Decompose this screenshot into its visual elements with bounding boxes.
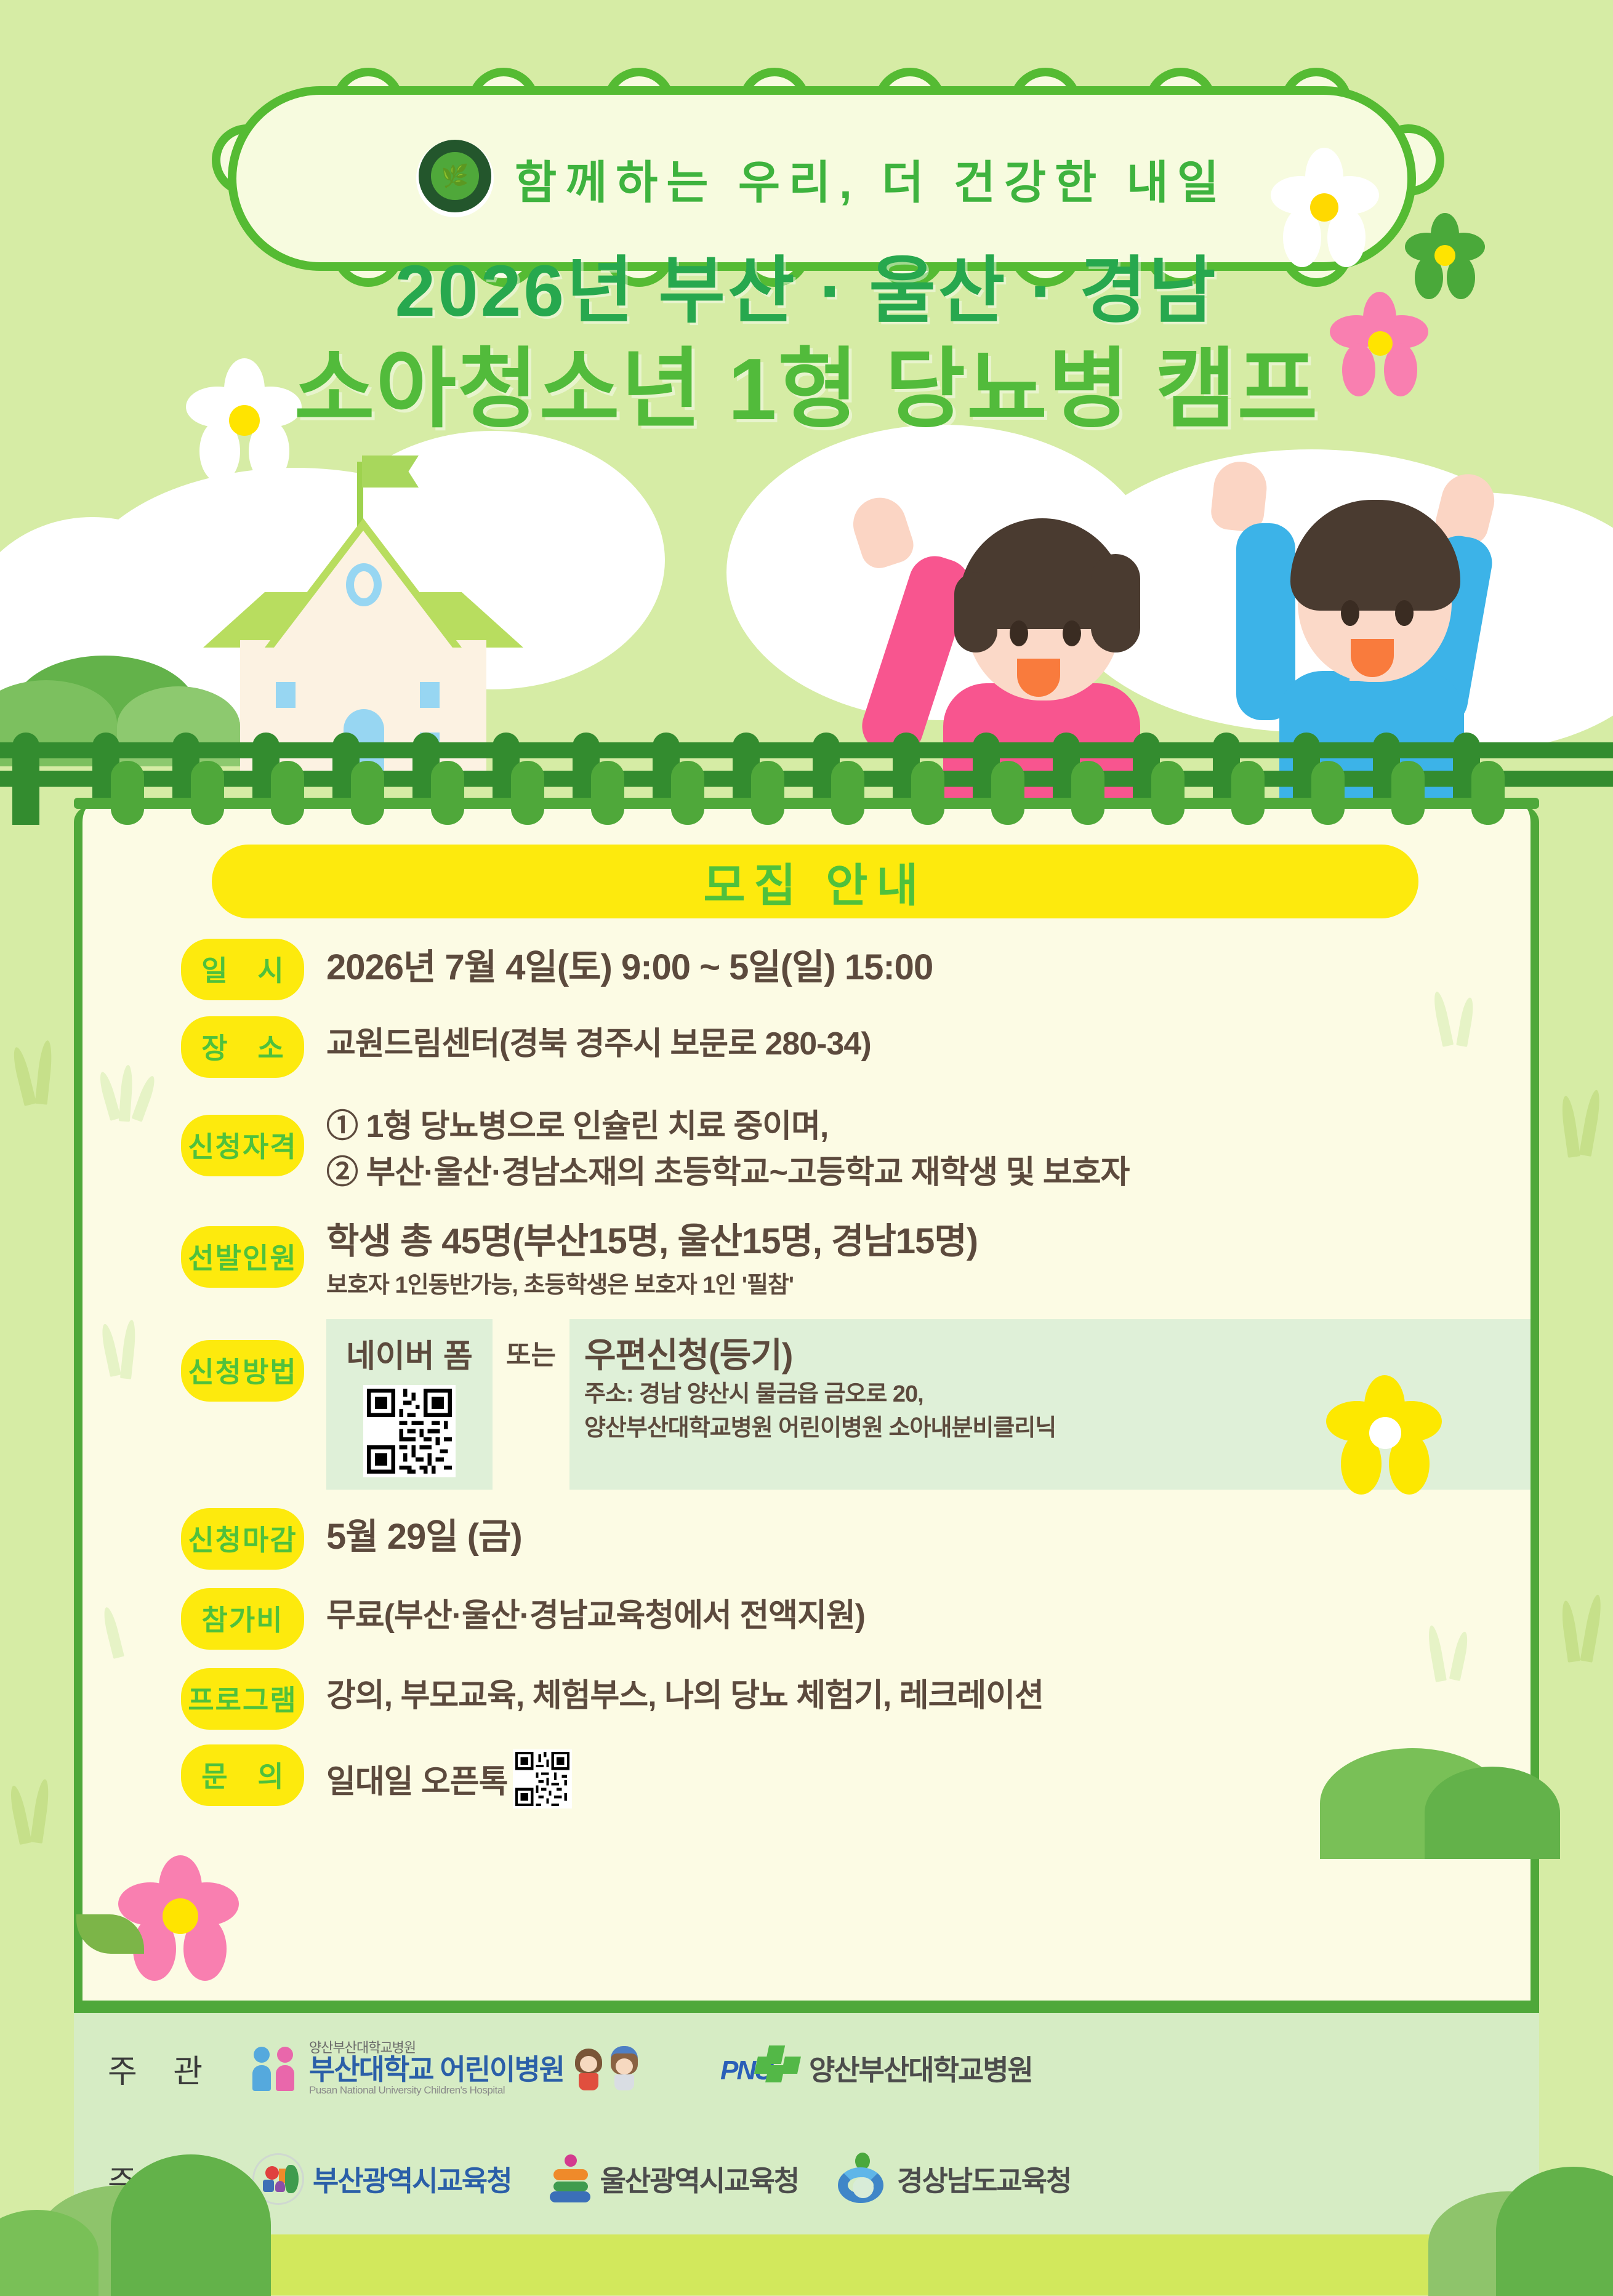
- flower-pink-icon: [118, 1859, 241, 1982]
- logo-ulsan-education-office: 울산광역시교육청: [549, 2154, 799, 2204]
- sponsor-footer: 주 관 양산부산대학교병원 부산대학교 어린이병원 Pusan National…: [74, 2001, 1539, 2234]
- grass-blade: [10, 1046, 37, 1106]
- row-value: 교원드림센터(경북 경주시 보문로 280-34): [326, 1021, 1531, 1067]
- info-card: 모집 안내: [74, 806, 1539, 2001]
- info-row-inquiry: 문 의 일대일 오픈톡: [82, 1744, 1531, 1808]
- grass-blade: [7, 1784, 32, 1845]
- row-value-main: 학생 총 45명(부산15명, 울산15명, 경남15명): [326, 1218, 1531, 1266]
- row-tag: 프로그램: [181, 1668, 304, 1730]
- info-row-apply-method: 신청방법 네이버 폼: [82, 1319, 1531, 1490]
- host-label: 주 관: [108, 2045, 252, 2092]
- apply-or-label: 또는: [493, 1319, 569, 1490]
- row-value-line2: ② 부산·울산·경남소재의 초등학교~고등학교 재학생 및 보호자: [326, 1150, 1531, 1196]
- slogan-text: 함께하는 우리, 더 건강한 내일: [515, 146, 1228, 212]
- row-tag: 일 시: [181, 939, 304, 1000]
- row-tag: 신청자격: [181, 1115, 304, 1176]
- bush-shape: [111, 2154, 271, 2296]
- info-row-location: 장 소 교원드림센터(경북 경주시 보문로 280-34): [82, 1016, 1531, 1078]
- row-tag: 신청방법: [181, 1340, 304, 1402]
- grass-blade: [1579, 1089, 1603, 1157]
- flower-yellow-icon: [1326, 1379, 1443, 1496]
- info-row-datetime: 일 시 2026년 7월 4일(토) 9:00 ~ 5일(일) 15:00: [82, 939, 1531, 1000]
- pnu-mark-icon: PNU: [720, 2044, 800, 2092]
- gyeongnam-edu-emblem-icon: [835, 2153, 888, 2206]
- busan-edu-name: 부산광역시교육청: [313, 2159, 512, 2199]
- pnuch-name: 부산대학교 어린이병원: [309, 2055, 564, 2084]
- naver-form-label: 네이버 폼: [346, 1330, 473, 1376]
- info-row-fee: 참가비 무료(부산·울산·경남교육청에서 전액지원): [82, 1588, 1531, 1650]
- row-tag: 문 의: [181, 1744, 304, 1806]
- info-row-quota: 선발인원 학생 총 45명(부산15명, 울산15명, 경남15명) 보호자 1…: [82, 1213, 1531, 1302]
- logo-pnu-childrens-hospital: 양산부산대학교병원 부산대학교 어린이병원 Pusan National Uni…: [252, 2041, 646, 2095]
- poster-root: 🌿 함께하는 우리, 더 건강한 내일 2026년 부산 · 울산 · 경남 소…: [0, 0, 1613, 2295]
- info-row-program: 프로그램 강의, 부모교육, 체험부스, 나의 당뇨 체험기, 레크레이션: [82, 1668, 1531, 1730]
- row-tag: 참가비: [181, 1588, 304, 1650]
- slogan-ribbon: 🌿 함께하는 우리, 더 건강한 내일: [228, 86, 1416, 271]
- logo-pnu-yangsan-hospital: PNU 양산부산대학교병원: [720, 2044, 1032, 2092]
- mascot-icon: [573, 2045, 646, 2092]
- row-value-line1: ① 1형 당뇨병으로 인슐린 치료 중이며,: [326, 1104, 1531, 1150]
- row-value: 강의, 부모교육, 체험부스, 나의 당뇨 체험기, 레크레이션: [326, 1673, 1531, 1719]
- footer-row-host: 주 관 양산부산대학교병원 부산대학교 어린이병원 Pusan National…: [74, 2013, 1539, 2124]
- row-value: 2026년 7월 4일(토) 9:00 ~ 5일(일) 15:00: [326, 944, 1531, 992]
- row-value: 무료(부산·울산·경남교육청에서 전액지원): [326, 1593, 1531, 1639]
- ulsan-edu-name: 울산광역시교육청: [600, 2159, 799, 2199]
- pnuch-figure-icon: [252, 2044, 300, 2092]
- row-value-sub: 보호자 1인동반가능, 초등학생은 보호자 1인 '필참': [326, 1269, 1531, 1302]
- grass-blade: [1559, 1600, 1580, 1663]
- footer-row-sponsors: 주 최 부산광역시교육청 울산광역시교육청: [74, 2124, 1539, 2234]
- card-heading: 모집 안내: [212, 845, 1418, 918]
- info-row-eligibility: 신청자격 ① 1형 당뇨병으로 인슐린 치료 중이며, ② 부산·울산·경남소재…: [82, 1099, 1531, 1197]
- pnuch-parent-name: 양산부산대학교병원: [309, 2041, 564, 2055]
- info-row-deadline: 신청마감 5월 29일 (금): [82, 1508, 1531, 1570]
- camp-emblem-icon: 🌿: [416, 140, 494, 217]
- opentalk-qr-code[interactable]: [513, 1749, 572, 1808]
- ulsan-edu-emblem-icon: [549, 2154, 592, 2204]
- title-line-2: 소아청소년 1형 당뇨병 캠프: [0, 337, 1613, 442]
- logo-gyeongnam-education-office: 경상남도교육청: [835, 2153, 1071, 2206]
- row-value: 일대일 오픈톡: [326, 1764, 508, 1800]
- grass-blade: [30, 1778, 51, 1844]
- row-tag: 선발인원: [181, 1226, 304, 1288]
- pnuch-name-en: Pusan National University Children's Hos…: [309, 2085, 564, 2096]
- pnuyh-name: 양산부산대학교병원: [809, 2048, 1032, 2089]
- postal-apply-title: 우편신청(등기): [584, 1328, 1508, 1378]
- poster-title: 2026년 부산 · 울산 · 경남 소아청소년 1형 당뇨병 캠프: [0, 246, 1613, 442]
- naver-form-qr-code[interactable]: [363, 1385, 456, 1477]
- logo-busan-education-office: 부산광역시교육청: [252, 2153, 512, 2205]
- row-value: 5월 29일 (금): [326, 1513, 1531, 1561]
- grass-blade: [1559, 1095, 1580, 1158]
- info-rows: 일 시 2026년 7월 4일(토) 9:00 ~ 5일(일) 15:00 장 …: [82, 939, 1531, 1811]
- naver-form-block[interactable]: 네이버 폼: [326, 1319, 493, 1490]
- row-tag: 신청마감: [181, 1508, 304, 1570]
- grass-blade: [35, 1040, 54, 1105]
- title-line-1: 2026년 부산 · 울산 · 경남: [0, 246, 1613, 337]
- grass-blade: [1580, 1594, 1604, 1663]
- gyeongnam-edu-name: 경상남도교육청: [897, 2159, 1071, 2199]
- row-tag: 장 소: [181, 1016, 304, 1078]
- notebook-rings: [74, 761, 1539, 829]
